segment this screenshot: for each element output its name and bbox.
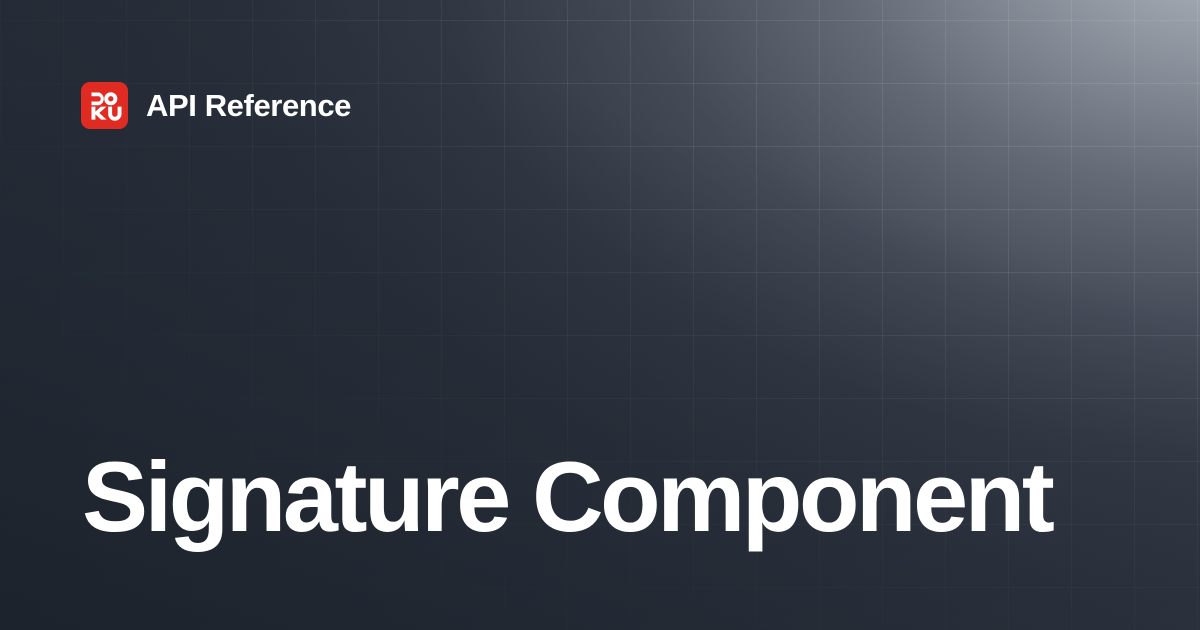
doku-logo-icon	[81, 82, 128, 129]
brand-row: API Reference	[81, 82, 351, 129]
page-title: Signature Component	[82, 445, 1051, 550]
brand-title: API Reference	[146, 90, 351, 121]
card-content: API Reference Signature Component	[0, 0, 1200, 630]
og-card: API Reference Signature Component	[0, 0, 1200, 630]
